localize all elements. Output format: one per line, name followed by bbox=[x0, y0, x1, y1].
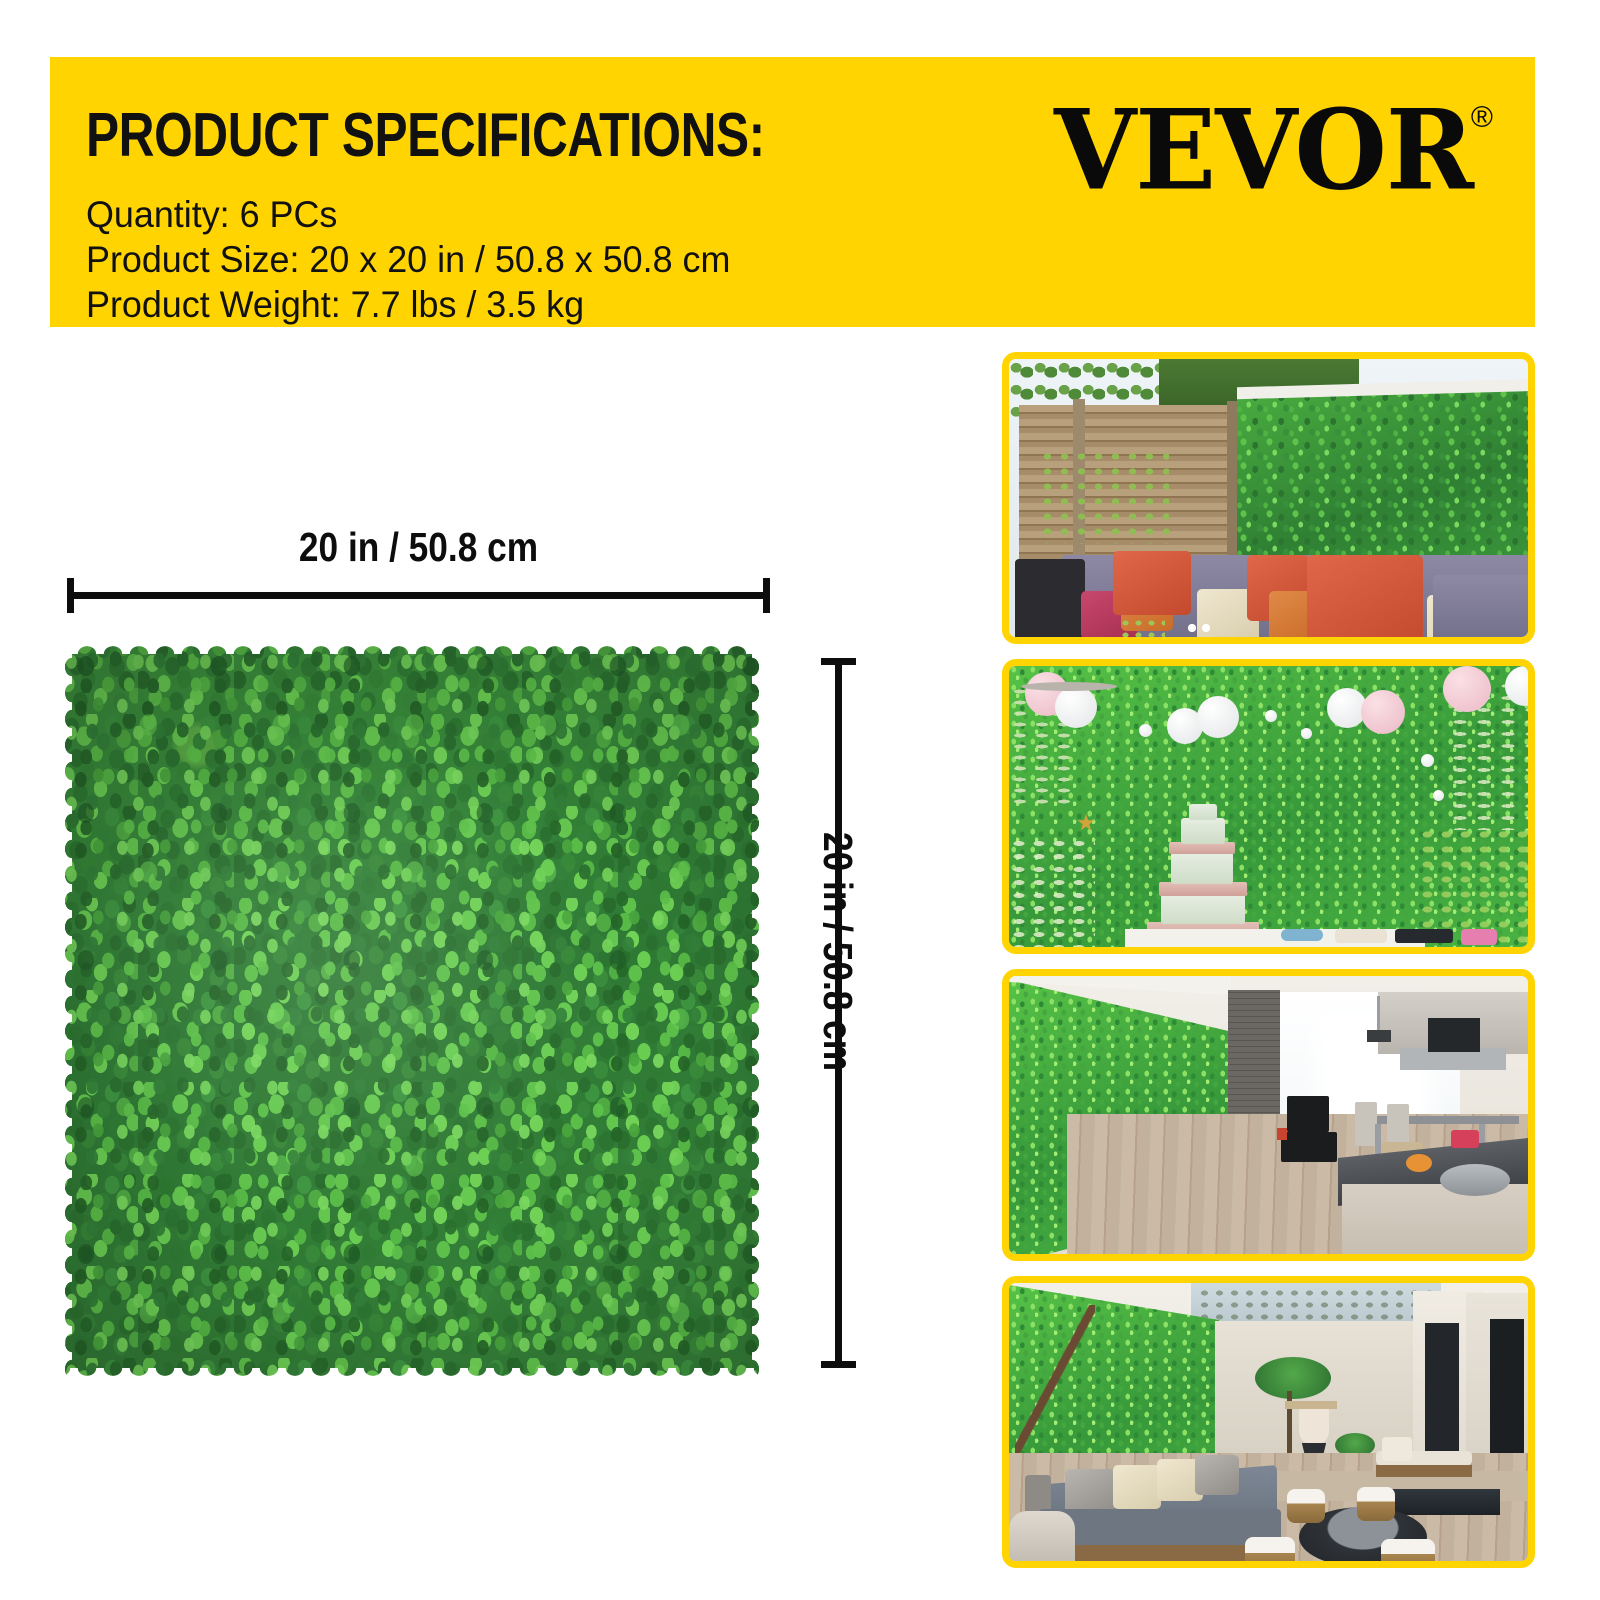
spec-product-weight: Product Weight: 7.7 lbs / 3.5 kg bbox=[86, 282, 862, 327]
thumbnail-interior-kitchen-accent-wall-scene[interactable] bbox=[1002, 969, 1535, 1261]
thumbnail-courtyard-firepit-scene[interactable] bbox=[1002, 1276, 1535, 1568]
product-image-boxwood-panel bbox=[52, 632, 774, 1392]
hedge-shading-overlay bbox=[52, 632, 774, 1392]
hedge-edge-right bbox=[752, 632, 774, 1392]
application-thumbnail-gallery bbox=[1002, 352, 1535, 1568]
hedge-edge-left bbox=[52, 632, 74, 1392]
spec-quantity: Quantity: 6 PCs bbox=[86, 192, 862, 237]
registered-trademark-icon: ® bbox=[1471, 103, 1493, 133]
hedge-edge-bottom bbox=[52, 1368, 774, 1392]
height-dimension-label: 20 in / 50.8 cm bbox=[817, 832, 858, 1071]
vevor-logo: VEVOR ® bbox=[1054, 95, 1493, 205]
thumbnail-party-backdrop-cake-scene[interactable] bbox=[1002, 659, 1535, 954]
specifications-banner: PRODUCT SPECIFICATIONS: Quantity: 6 PCs … bbox=[50, 57, 1535, 327]
hedge-edge-top bbox=[52, 632, 774, 656]
page-title: PRODUCT SPECIFICATIONS: bbox=[86, 105, 765, 167]
thumbnail-outdoor-patio-sofa-scene[interactable] bbox=[1002, 352, 1535, 644]
thumbnail-4-artwork bbox=[1009, 1283, 1528, 1561]
thumbnail-1-artwork bbox=[1009, 359, 1528, 637]
specifications-list: Quantity: 6 PCs Product Size: 20 x 20 in… bbox=[86, 192, 886, 327]
width-dimension-label: 20 in / 50.8 cm bbox=[116, 527, 721, 568]
thumbnail-3-artwork bbox=[1009, 976, 1528, 1254]
width-dimension-line bbox=[67, 592, 770, 599]
thumbnail-2-artwork bbox=[1009, 666, 1528, 947]
vevor-wordmark: VEVOR bbox=[1054, 95, 1473, 205]
spec-product-size: Product Size: 20 x 20 in / 50.8 x 50.8 c… bbox=[86, 237, 862, 282]
